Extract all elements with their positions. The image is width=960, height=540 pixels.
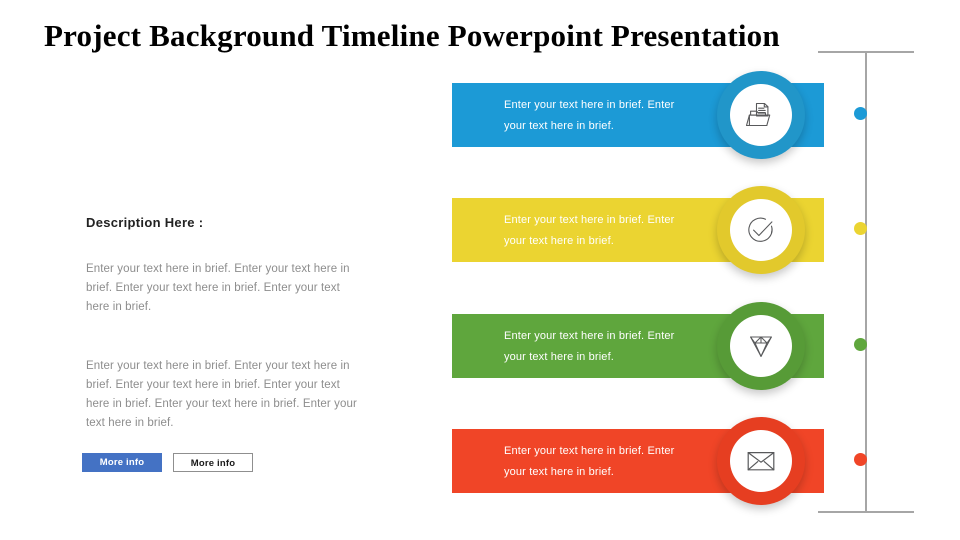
page-title: Project Background Timeline Powerpoint P… [44, 17, 934, 55]
banner-text-contact: Enter your text here in brief. Enter you… [504, 441, 694, 483]
icon-badge-quality[interactable] [730, 315, 792, 377]
timeline-dot-quality[interactable] [854, 338, 867, 351]
icon-badge-approved[interactable] [730, 199, 792, 261]
description-paragraph-2: Enter your text here in brief. Enter you… [86, 357, 364, 433]
icon-ring-contact [717, 417, 805, 505]
envelope-icon [744, 446, 778, 476]
icon-badge-documents[interactable] [730, 84, 792, 146]
diamond-icon [744, 330, 778, 362]
description-heading: Description Here : [86, 215, 203, 230]
presentation-slide: Project Background Timeline Powerpoint P… [0, 0, 960, 540]
more-info-primary-button[interactable]: More info [82, 453, 162, 472]
banner-text-quality: Enter your text here in brief. Enter you… [504, 326, 694, 368]
timeline-dot-approved[interactable] [854, 222, 867, 235]
check-circle-icon [744, 213, 778, 247]
timeline-dot-documents[interactable] [854, 107, 867, 120]
icon-ring-approved [717, 186, 805, 274]
timeline-row-quality: Enter your text here in brief. Enter you… [452, 296, 824, 396]
icon-ring-quality [717, 302, 805, 390]
timeline-dot-contact[interactable] [854, 453, 867, 466]
timeline-row-contact: Enter your text here in brief. Enter you… [452, 411, 824, 511]
banner-text-approved: Enter your text here in brief. Enter you… [504, 210, 694, 252]
more-info-secondary-button[interactable]: More info [173, 453, 253, 472]
icon-ring-documents [717, 71, 805, 159]
description-paragraph-1: Enter your text here in brief. Enter you… [86, 260, 358, 317]
banner-text-documents: Enter your text here in brief. Enter you… [504, 95, 694, 137]
folder-documents-icon [745, 99, 777, 131]
timeline-row-approved: Enter your text here in brief. Enter you… [452, 180, 824, 280]
timeline-vertical-line [865, 52, 867, 513]
timeline-row-documents: Enter your text here in brief. Enter you… [452, 65, 824, 165]
timeline-cap-bottom [818, 511, 914, 513]
icon-badge-contact[interactable] [730, 430, 792, 492]
timeline-rail [818, 50, 918, 515]
